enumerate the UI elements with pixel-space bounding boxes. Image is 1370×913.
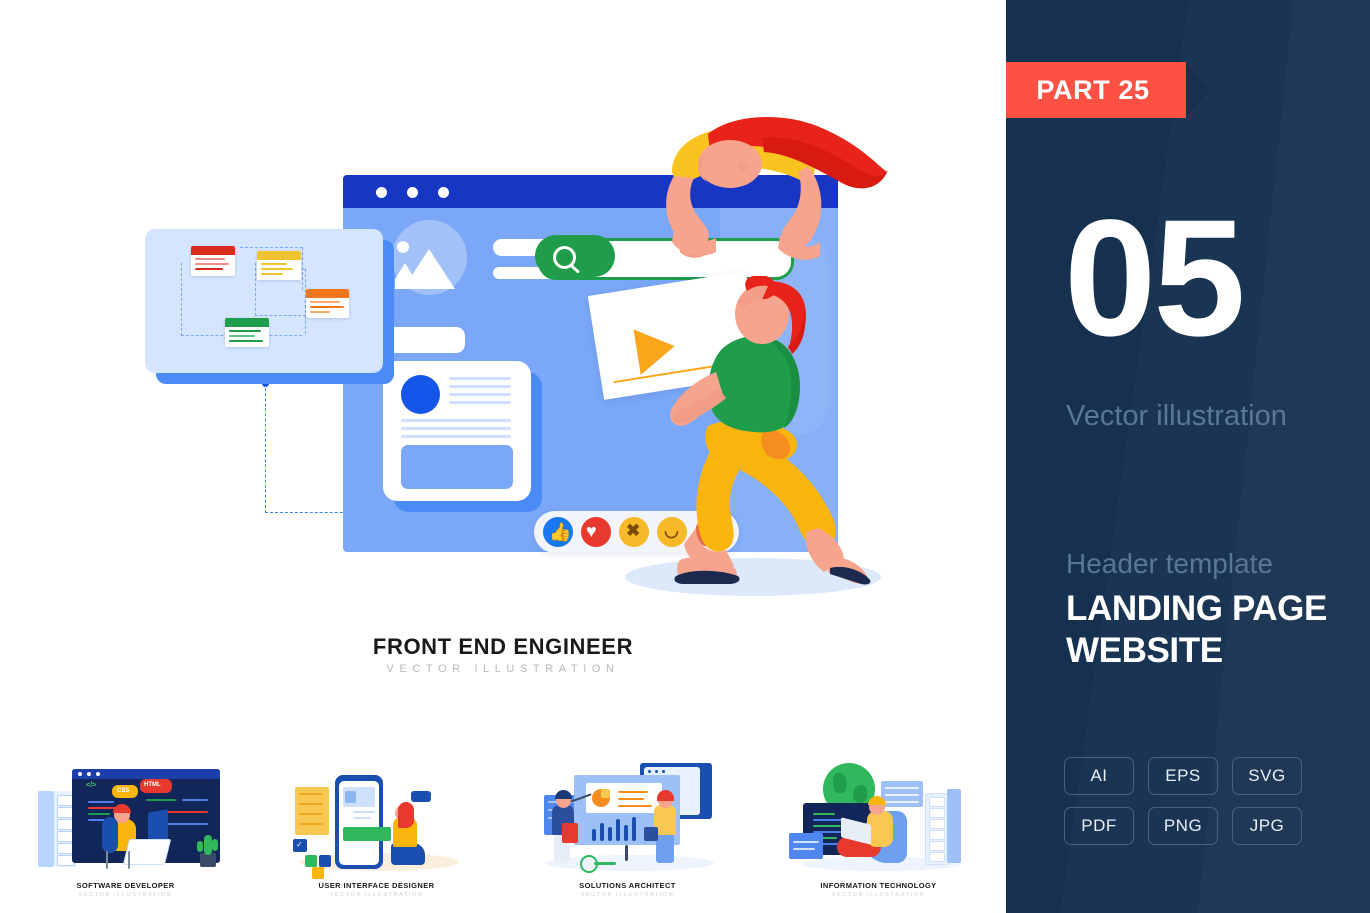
format-badges: AI EPS SVG PDF PNG JPG [1064,757,1314,845]
code-line [88,801,114,803]
thumbnail-subcaption: VECTOR ILLUSTRATION [251,892,502,898]
sidebar-panel [38,791,54,867]
speech-bubble-css-label: CSS [117,788,129,794]
part-ribbon: PART 25 [1006,62,1186,118]
app-icon [319,855,331,867]
poster-canvas: 👍 ♥ ✖ ◡ ⌒ [0,0,1370,913]
legend-row [618,798,644,800]
cactus-arm [197,841,203,852]
set-number-subtitle: Vector illustration [1066,400,1287,433]
thumbnail-caption: INFORMATION TECHNOLOGY [753,881,1004,890]
thumbnail-software-developer[interactable]: </> CSS HTML [0,745,251,913]
flowchart-panel [145,229,383,373]
flow-card-header [191,246,235,255]
bar-chart-bar [624,825,628,841]
chair [102,817,118,853]
desk-leg [128,851,130,869]
flow-card-header [257,251,301,260]
part-ribbon-notch [1186,62,1212,118]
card-image-placeholder [401,445,513,489]
thumbnail-artwork [516,749,740,871]
card-text-line [401,427,511,430]
bar-chart-bar [632,817,636,841]
flow-card-red [191,246,235,276]
thumbs-up-glyph: 👍 [549,522,571,542]
flow-card-row [229,335,255,337]
flow-card-row [310,311,330,313]
legend-row [618,791,648,793]
cactus-arm [212,839,218,851]
thumbnail-subcaption: VECTOR ILLUSTRATION [502,892,753,898]
clipboard [562,823,578,843]
desk-leg [106,851,108,869]
cactus-pot [200,853,216,867]
panel-title-line1: LANDING PAGE [1066,588,1327,630]
thumbnail-subcaption: VECTOR ILLUSTRATION [753,892,1004,898]
person-hair [398,802,414,828]
format-badge-eps[interactable]: EPS [1148,757,1218,795]
thumbnail-subcaption: VECTOR ILLUSTRATION [0,892,251,898]
card-text-line [401,435,511,438]
window-row [793,841,819,843]
phone-text-line [353,811,375,813]
thumbnail-caption: SOFTWARE DEVELOPER [0,881,251,890]
format-badge-pdf[interactable]: PDF [1064,807,1134,845]
pie-chart-slice [601,789,610,798]
flow-card-header [225,318,269,327]
magnifier-handle [594,862,616,865]
app-icon [305,855,317,867]
code-tag-label: </> [86,782,96,789]
flow-card-orange [306,289,349,318]
flow-card-row [261,263,287,265]
panel-title-line2: WEBSITE [1066,630,1223,672]
board-stand [625,845,628,861]
main-illustration: 👍 ♥ ✖ ◡ ⌒ [0,0,1006,913]
part-ribbon-label: PART 25 [1036,75,1149,106]
flow-card-green [225,318,269,347]
front-window [789,833,823,859]
thumbnail-artwork: ✓ [265,749,489,871]
avatar [401,375,440,414]
flow-card-row [310,306,344,308]
bar-chart-bar [600,823,604,841]
laptop-base [123,839,171,865]
profile-avatar [345,791,356,803]
code-line [146,799,176,801]
bar-chart-bar [608,827,612,841]
cabinet-side [947,789,961,863]
heart-glyph: ♥ [586,521,597,541]
code-line [164,823,208,825]
thumbnail-strip: </> CSS HTML [0,745,1006,913]
format-badge-jpg[interactable]: JPG [1232,807,1302,845]
browser-dot-1 [376,187,387,198]
drawer [929,819,945,829]
set-number: 05 [1064,196,1243,362]
phone-text-line [353,817,371,819]
drawer [929,797,945,807]
format-badge-ai[interactable]: AI [1064,757,1134,795]
thumbnail-caption: USER INTERFACE DESIGNER [251,881,502,890]
flow-card-row [229,340,263,342]
flow-card-row [310,301,340,303]
window-dot [655,770,658,773]
character-man-walking [652,276,902,588]
drawer [929,830,945,840]
code-line [813,813,835,815]
card-text-line [449,401,511,404]
chat-bubble [411,791,431,802]
hero-image-icon [395,227,463,289]
flow-card-row [261,268,293,270]
window-dot [87,772,91,776]
server-row [885,787,919,789]
connector-line-left [265,383,266,513]
drawer [929,841,945,851]
card-text-line [449,385,511,388]
drawer [929,852,945,862]
page-title: FRONT END ENGINEER [0,634,1006,660]
format-badge-png[interactable]: PNG [1148,807,1218,845]
bar-chart-bar [592,829,596,841]
thumbnail-information-technology[interactable]: INFORMATION TECHNOLOGY VECTOR ILLUSTRATI… [753,745,1004,913]
mountain-icon [403,249,455,289]
thumbnail-artwork: </> CSS HTML [14,749,238,871]
code-line [182,799,208,801]
flow-card-row [229,330,261,332]
flow-card-row [195,258,225,260]
flow-card-row [261,273,283,275]
flow-card-row [195,263,229,265]
phone-notch [352,775,366,779]
check-icon: ✓ [296,840,303,849]
card-text-line [401,419,511,422]
phone-cta-button [343,827,391,841]
header-kicker: Header template [1066,548,1273,580]
window-dot [78,772,82,776]
list-row [299,813,323,815]
list-row [299,793,323,795]
presenter-hair [555,790,572,799]
drawer [929,808,945,818]
card-text-line [449,377,511,380]
character-woman-leaning [612,112,902,287]
cactus [204,835,212,855]
window-dot [96,772,100,776]
laugh-glyph: ✖ [626,521,640,541]
thumbnail-caption: SOLUTIONS ARCHITECT [502,881,753,890]
flow-card-header [306,289,349,298]
window-dot [648,770,651,773]
window-dot [662,770,665,773]
ground-shadow [546,855,714,871]
visitor-hair [657,790,674,801]
browser-dot-2 [407,187,418,198]
card-text-line [449,393,511,396]
legend-row [618,805,652,807]
thumbnail-artwork [767,749,991,871]
thumbnail-user-interface-designer[interactable]: ✓ USER INTERFACE DESIGNER VECTOR ILLUSTR… [251,745,502,913]
code-line [813,825,841,827]
list-row [299,803,323,805]
code-editor-titlebar [72,769,220,779]
window-row [793,848,815,850]
list-row [299,823,323,825]
content-card [383,361,531,501]
bar-chart-bar [616,819,620,841]
speech-bubble-html-label: HTML [144,782,161,788]
code-line [88,813,110,815]
format-badge-svg[interactable]: SVG [1232,757,1302,795]
server-row [885,794,919,796]
visitor-legs [656,831,674,863]
flow-card-yellow [257,251,301,280]
page-subtitle: VECTOR ILLUSTRATION [0,663,1006,675]
info-panel: PART 25 05 Vector illustration Header te… [1006,0,1370,913]
browser-dot-3 [438,187,449,198]
globe-land [833,773,847,793]
flow-card-row [195,268,223,270]
chip-placeholder-1 [387,327,465,353]
globe-land [853,785,867,803]
app-icon [312,867,324,879]
server-row [885,801,919,803]
thumbnail-solutions-architect[interactable]: SOLUTIONS ARCHITECT VECTOR ILLUSTRATION [502,745,753,913]
handbag [644,827,658,841]
